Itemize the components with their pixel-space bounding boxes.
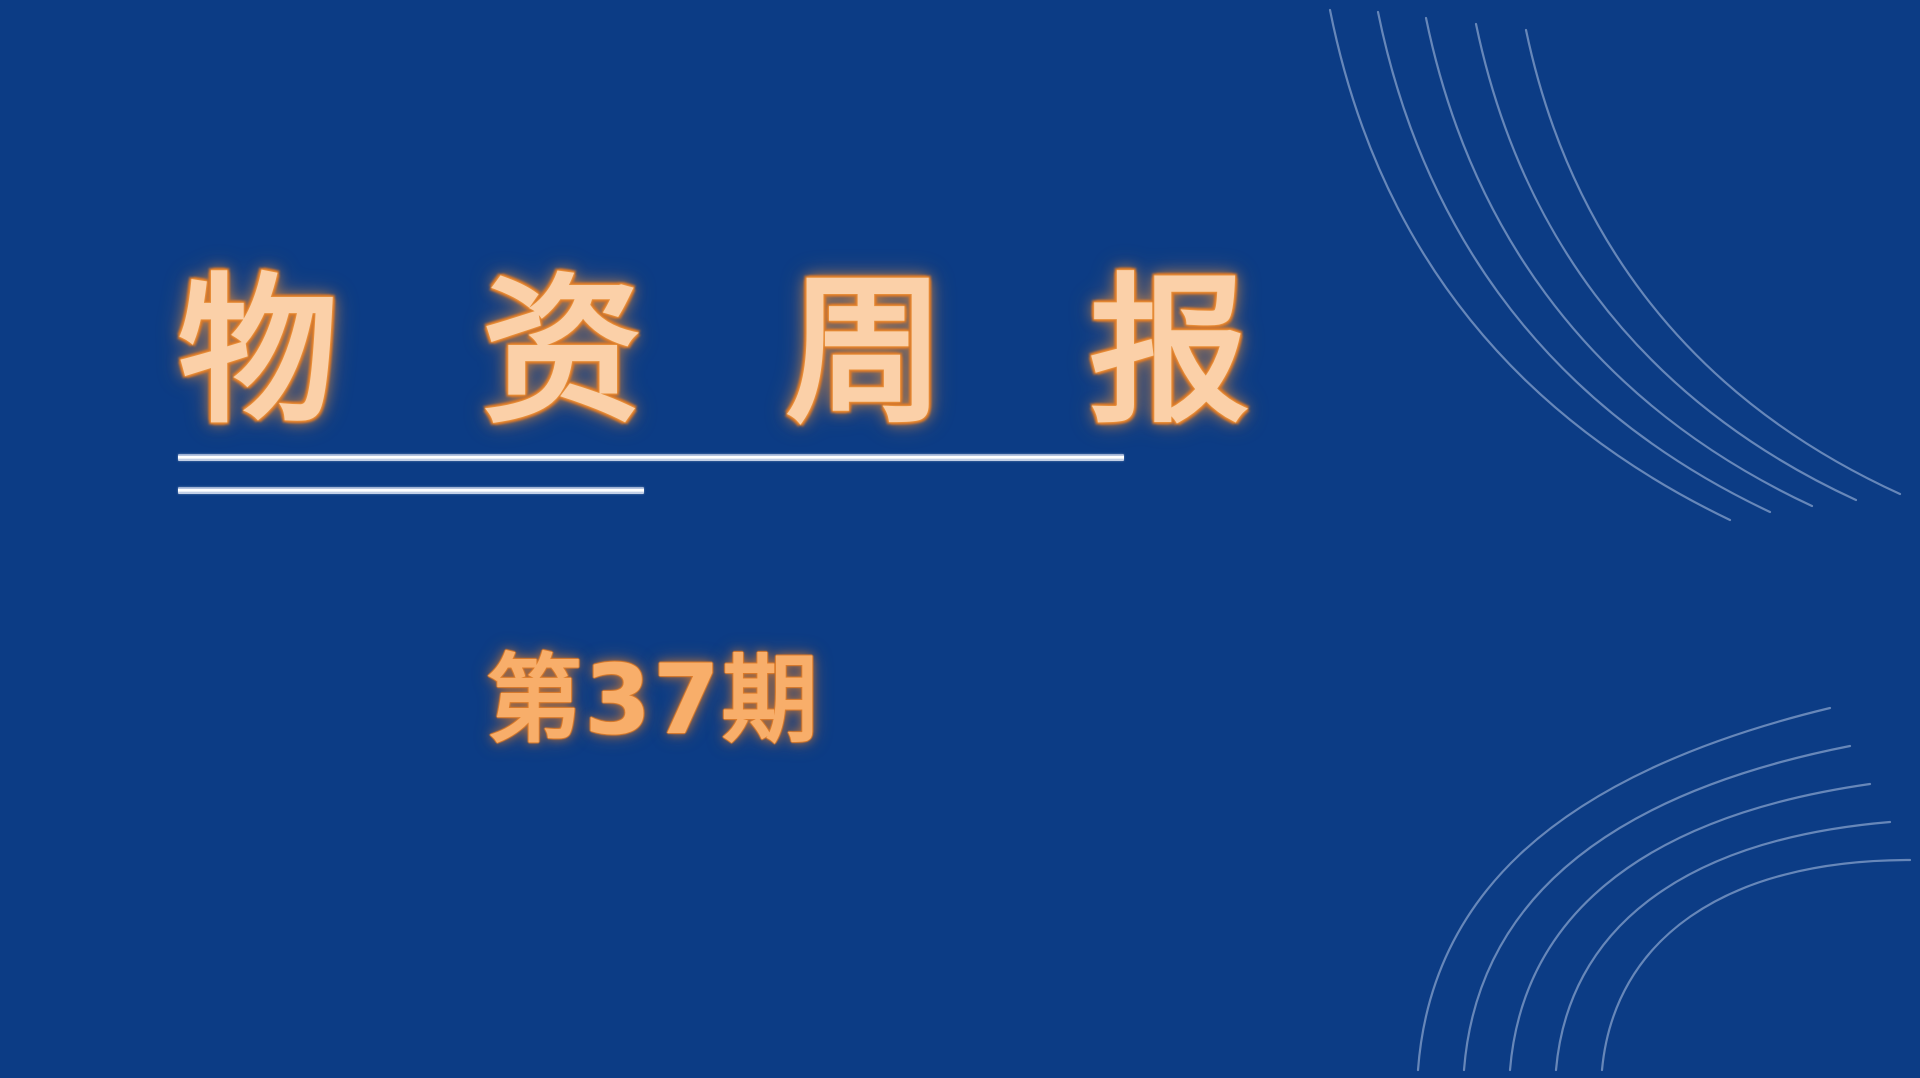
underline-rule-primary xyxy=(178,454,1124,461)
curve-line-icon xyxy=(1556,822,1890,1070)
curve-line-icon xyxy=(1526,30,1900,494)
bottom-right-curves-decoration xyxy=(1360,658,1920,1078)
title-slide: 物 资 周 报 第37期 xyxy=(0,0,1920,1078)
curve-line-icon xyxy=(1418,708,1830,1070)
curve-line-icon xyxy=(1464,746,1850,1070)
title-underline-rules xyxy=(178,454,1278,494)
curve-line-icon xyxy=(1476,24,1856,500)
issue-number-subtitle: 第37期 xyxy=(486,648,820,754)
page-title: 物 资 周 报 xyxy=(178,268,1278,436)
curve-line-icon xyxy=(1510,784,1870,1070)
curve-line-icon xyxy=(1378,12,1770,512)
curve-line-icon xyxy=(1602,860,1910,1070)
underline-rule-secondary xyxy=(178,487,644,494)
title-block: 物 资 周 报 xyxy=(178,268,1278,494)
subtitle-block: 第37期 xyxy=(178,648,1128,754)
curve-line-icon xyxy=(1330,10,1730,520)
top-right-curves-decoration xyxy=(1300,0,1920,620)
curve-line-icon xyxy=(1426,18,1812,506)
